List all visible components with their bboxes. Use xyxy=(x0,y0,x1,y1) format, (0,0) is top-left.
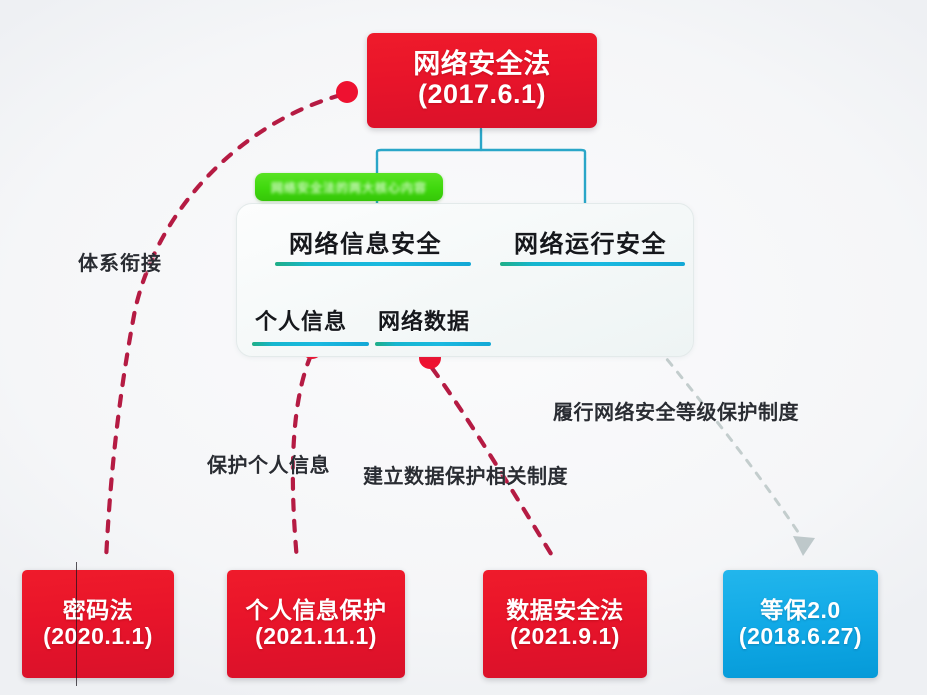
node-mlps-2-date: (2018.6.27) xyxy=(739,623,862,650)
edge-caption-data-protection-rules: 建立数据保护相关制度 xyxy=(363,460,568,489)
node-cipher-law-date: (2020.1.1) xyxy=(43,623,153,650)
node-mlps-2-title: 等保2.0 xyxy=(760,598,840,623)
branch-label-personal-info[interactable]: 个人信息 xyxy=(255,304,347,336)
tree-fork-bar xyxy=(377,150,585,159)
core-content-badge-label: 网络安全法的两大核心内容 xyxy=(271,179,427,196)
scanline-artifact xyxy=(76,562,77,686)
node-root-law-title: 网络安全法 xyxy=(413,50,551,79)
edge-caption-mlps-duty: 履行网络安全等级保护制度 xyxy=(553,396,799,425)
underline-personal-info xyxy=(252,342,369,346)
node-data-security-law-date: (2021.9.1) xyxy=(510,623,620,650)
underline-info-security xyxy=(275,262,471,266)
node-cipher-law-title: 密码法 xyxy=(63,598,134,623)
diagram-canvas: 网络安全法 (2017.6.1) 网络安全法的两大核心内容 网络信息安全 网络运… xyxy=(0,0,927,695)
node-personal-info-protection-law-date: (2021.11.1) xyxy=(255,623,377,650)
arrowhead-mlps xyxy=(793,536,815,556)
underline-network-data xyxy=(375,342,491,346)
branch-label-network-data[interactable]: 网络数据 xyxy=(378,304,470,336)
branch-label-info-security[interactable]: 网络信息安全 xyxy=(289,224,442,259)
node-personal-info-protection-law-title: 个人信息保护 xyxy=(246,598,387,623)
node-personal-info-protection-law[interactable]: 个人信息保护 (2021.11.1) xyxy=(227,570,405,678)
node-data-security-law[interactable]: 数据安全法 (2021.9.1) xyxy=(483,570,647,678)
underline-ops-security xyxy=(500,262,685,266)
node-mlps-2[interactable]: 等保2.0 (2018.6.27) xyxy=(723,570,878,678)
node-root-law[interactable]: 网络安全法 (2017.6.1) xyxy=(367,33,597,128)
anchor-dot-root xyxy=(336,81,358,103)
node-data-security-law-title: 数据安全法 xyxy=(506,598,624,623)
core-content-badge: 网络安全法的两大核心内容 xyxy=(255,173,443,201)
edge-caption-system-link: 体系衔接 xyxy=(78,247,162,276)
branch-label-ops-security[interactable]: 网络运行安全 xyxy=(514,224,667,259)
edge-caption-protect-personal-info: 保护个人信息 xyxy=(207,449,330,478)
node-cipher-law[interactable]: 密码法 (2020.1.1) xyxy=(22,570,174,678)
node-root-law-date: (2017.6.1) xyxy=(418,79,546,111)
